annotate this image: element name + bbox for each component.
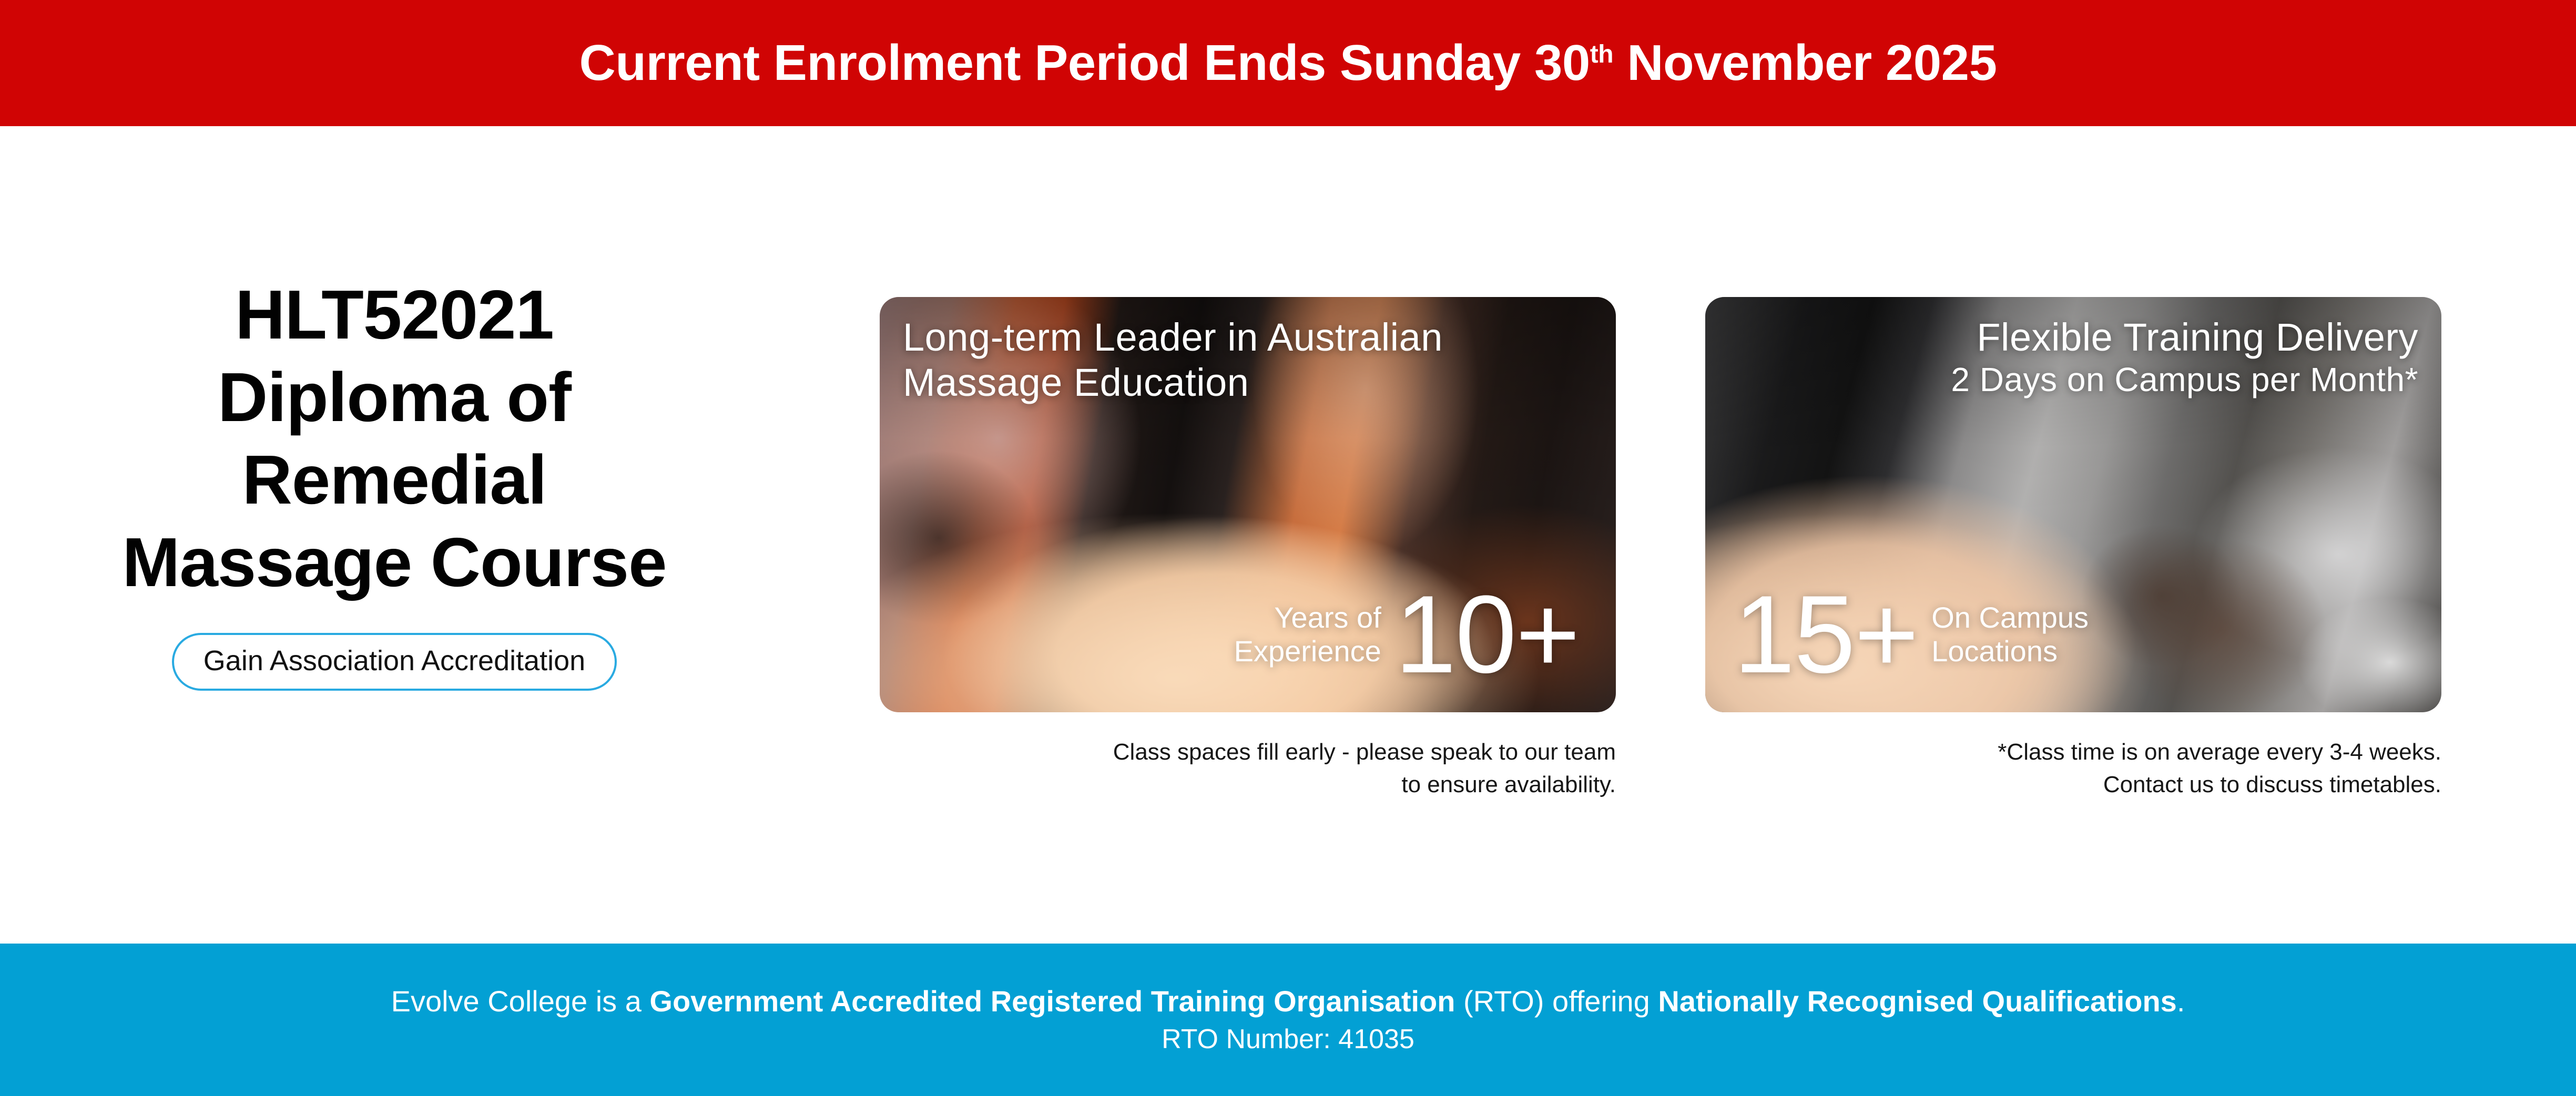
rto-statement-part-2: (RTO) offering — [1455, 985, 1658, 1018]
page-title-line-3: Remedial — [95, 438, 694, 521]
on-campus-locations-value: 15+ — [1734, 589, 1918, 680]
years-of-experience-label: Years of Experience — [1234, 601, 1381, 669]
course-title-column: HLT52021 Diploma of Remedial Massage Cou… — [95, 273, 694, 691]
rto-statement-bold-1: Government Accredited Registered Trainin… — [649, 985, 1455, 1018]
enrolment-deadline-banner: Current Enrolment Period Ends Sunday 30t… — [0, 0, 2576, 126]
rto-statement: Evolve College is a Government Accredite… — [391, 985, 2185, 1018]
page-title-line-1: HLT52021 — [95, 273, 694, 356]
page-title-line-4: Massage Course — [95, 521, 694, 603]
rto-statement-part-1: Evolve College is a — [391, 985, 650, 1018]
on-campus-locations-stat: 15+ On Campus Locations — [1728, 589, 2418, 691]
feature-card-flexible-delivery-content: Flexible Training Delivery 2 Days on Cam… — [1705, 297, 2441, 712]
feature-card-leader-heading-line-1: Long-term Leader in Australian — [903, 315, 1593, 360]
ordinal-suffix: th — [1590, 40, 1613, 68]
feature-card-leader-caption-line-2: to ensure availability. — [880, 769, 1616, 801]
page-title: HLT52021 Diploma of Remedial Massage Cou… — [95, 273, 694, 603]
rto-statement-part-3: . — [2177, 985, 2185, 1018]
feature-card-flexible-delivery-heading-line-2: 2 Days on Campus per Month* — [1728, 360, 2418, 399]
enrolment-deadline-text: Current Enrolment Period Ends Sunday 30t… — [579, 38, 1997, 88]
page-title-line-2: Diploma of — [95, 356, 694, 438]
rto-statement-bold-2: Nationally Recognised Qualifications — [1658, 985, 2176, 1018]
feature-card-flexible-delivery-heading-line-1: Flexible Training Delivery — [1728, 315, 2418, 360]
on-campus-locations-label-line-1: On Campus — [1931, 601, 2089, 634]
enrolment-deadline-suffix: November 2025 — [1613, 35, 1997, 91]
feature-card-leader-caption: Class spaces fill early - please speak t… — [880, 736, 1616, 802]
feature-card-flexible-delivery-caption-line-1: *Class time is on average every 3-4 week… — [1705, 736, 2441, 769]
feature-card-flexible-delivery-caption: *Class time is on average every 3-4 week… — [1705, 736, 2441, 802]
rto-accreditation-banner: Evolve College is a Government Accredite… — [0, 944, 2576, 1096]
rto-number: RTO Number: 41035 — [1162, 1025, 1414, 1054]
enrolment-deadline-prefix: Current Enrolment Period Ends Sunday 30 — [579, 35, 1590, 91]
gain-association-accreditation-button[interactable]: Gain Association Accreditation — [172, 633, 617, 691]
years-of-experience-label-line-2: Experience — [1234, 634, 1381, 668]
feature-card-leader-caption-line-1: Class spaces fill early - please speak t… — [880, 736, 1616, 769]
years-of-experience-label-line-1: Years of — [1234, 601, 1381, 634]
years-of-experience-stat: Years of Experience 10+ — [903, 589, 1593, 691]
feature-card-leader[interactable]: Long-term Leader in Australian Massage E… — [880, 297, 1616, 712]
on-campus-locations-label: On Campus Locations — [1931, 601, 2089, 669]
on-campus-locations-label-line-2: Locations — [1931, 634, 2089, 668]
years-of-experience-value: 10+ — [1395, 589, 1579, 680]
feature-card-leader-heading: Long-term Leader in Australian Massage E… — [903, 315, 1593, 405]
feature-card-flexible-delivery-heading: Flexible Training Delivery 2 Days on Cam… — [1728, 315, 2418, 399]
feature-card-leader-heading-line-2: Massage Education — [903, 360, 1593, 405]
feature-card-flexible-delivery-caption-line-2: Contact us to discuss timetables. — [1705, 769, 2441, 801]
feature-card-leader-content: Long-term Leader in Australian Massage E… — [880, 297, 1616, 712]
promo-page: Current Enrolment Period Ends Sunday 30t… — [0, 0, 2576, 1096]
feature-card-flexible-delivery[interactable]: Flexible Training Delivery 2 Days on Cam… — [1705, 297, 2441, 712]
